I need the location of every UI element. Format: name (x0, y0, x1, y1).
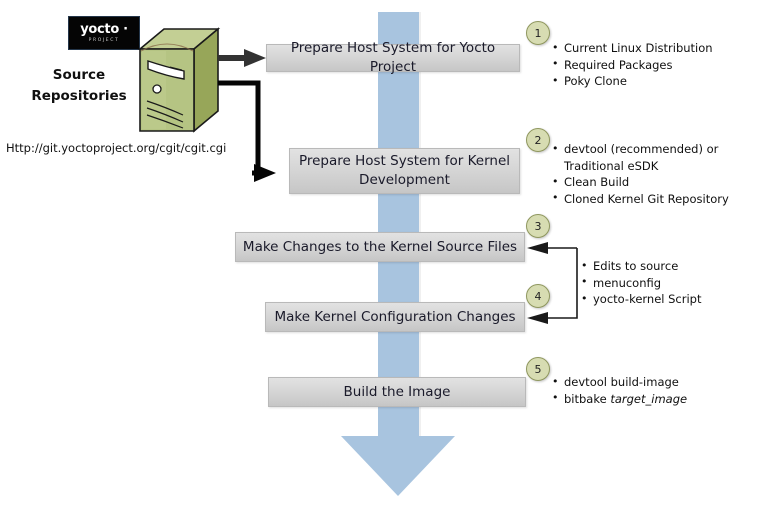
step-circle-2: 2 (526, 128, 550, 152)
bullet-item: devtool build-image (552, 374, 764, 391)
bullet-item: menuconfig (581, 275, 766, 292)
connector-to-step1-head (244, 49, 266, 67)
bullet-item: bitbake target_image (552, 391, 764, 408)
source-repositories-label-line1: Source (14, 65, 144, 86)
bracket-arrow-head-step4 (527, 312, 548, 324)
bullet-text-prefix: bitbake (564, 392, 610, 406)
source-repositories-url: Http://git.yoctoproject.org/cgit/cgit.cg… (6, 141, 226, 155)
diagram-canvas: yocto · PROJECT Source Repositories Http… (0, 0, 769, 517)
step-circle-1: 1 (526, 21, 550, 45)
source-repositories-label: Source Repositories (14, 65, 144, 107)
yocto-project-logo: yocto · PROJECT (68, 16, 140, 50)
bullet-list-step-5: devtool build-image bitbake target_image (552, 374, 764, 407)
process-box-step-5[interactable]: Build the Image (268, 377, 526, 407)
yocto-logo-wordmark: yocto · (80, 23, 128, 36)
yocto-logo-subtext: PROJECT (89, 37, 120, 44)
bullet-item: Clean Build (552, 174, 764, 191)
step-circle-5: 5 (526, 357, 550, 381)
bullet-item: yocto-kernel Script (581, 291, 766, 308)
process-box-step-3[interactable]: Make Changes to the Kernel Source Files (235, 232, 525, 262)
server-tower-icon (136, 27, 220, 137)
bullet-list-step-2: devtool (recommended) or Traditional eSD… (552, 141, 764, 207)
step-circle-4: 4 (526, 284, 550, 308)
bullet-item: devtool (recommended) or Traditional eSD… (552, 141, 764, 174)
bullet-list-step-1: Current Linux Distribution Required Pack… (552, 40, 764, 90)
main-flow-arrow-head (341, 436, 455, 496)
bullet-list-steps-3-4: Edits to source menuconfig yocto-kernel … (581, 258, 766, 308)
process-box-step-1[interactable]: Prepare Host System for Yocto Project (266, 44, 520, 72)
bullet-item: Current Linux Distribution (552, 40, 764, 57)
bullet-item: Required Packages (552, 57, 764, 74)
bullet-item: Poky Clone (552, 73, 764, 90)
step-circle-3: 3 (526, 214, 550, 238)
bullet-text-italic: target_image (610, 392, 687, 406)
connector-to-step2 (218, 83, 258, 173)
process-box-step-4[interactable]: Make Kernel Configuration Changes (265, 302, 525, 332)
process-box-step-2[interactable]: Prepare Host System for Kernel Developme… (289, 148, 520, 194)
source-repositories-label-line2: Repositories (14, 86, 144, 107)
bracket-arrow-head-step3 (527, 242, 548, 254)
bullet-item: Cloned Kernel Git Repository (552, 191, 764, 208)
bullet-item: Edits to source (581, 258, 766, 275)
connector-to-step2-head (254, 164, 276, 182)
bracket-steps-3-4 (546, 248, 577, 318)
